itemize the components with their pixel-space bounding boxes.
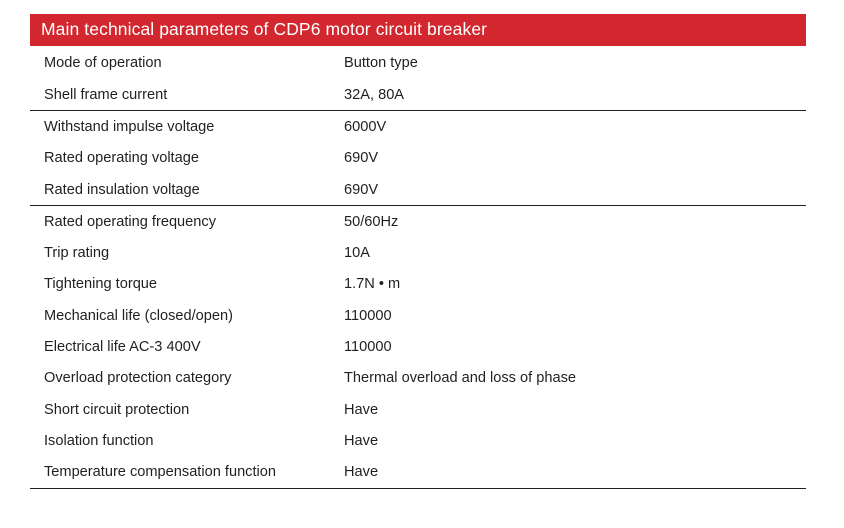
row-value: 10A [344, 245, 806, 261]
table-row: Short circuit protection Have [30, 394, 806, 425]
row-label: Rated operating frequency [30, 214, 344, 230]
row-value: 690V [344, 150, 806, 166]
row-label: Tightening torque [30, 276, 344, 292]
table-row: Rated operating frequency 50/60Hz [30, 206, 806, 237]
row-label: Overload protection category [30, 370, 344, 386]
table-row: Shell frame current 32A, 80A [30, 79, 806, 110]
table-group-general: Mode of operation Button type Shell fram… [30, 46, 806, 111]
table-header-band: Main technical parameters of CDP6 motor … [30, 14, 806, 46]
row-label: Temperature compensation function [30, 464, 344, 480]
row-value: 50/60Hz [344, 214, 806, 230]
row-label: Mechanical life (closed/open) [30, 308, 344, 324]
table-row: Mechanical life (closed/open) 110000 [30, 300, 806, 331]
table-row: Withstand impulse voltage 6000V [30, 111, 806, 142]
specification-table: Main technical parameters of CDP6 motor … [30, 14, 806, 489]
table-row: Rated operating voltage 690V [30, 143, 806, 174]
table-row: Trip rating 10A [30, 237, 806, 268]
row-label: Mode of operation [30, 55, 344, 71]
row-value: Thermal overload and loss of phase [344, 370, 806, 386]
table-row: Isolation function Have [30, 425, 806, 456]
row-label: Withstand impulse voltage [30, 119, 344, 135]
table-group-performance: Rated operating frequency 50/60Hz Trip r… [30, 206, 806, 489]
table-row: Electrical life AC-3 400V 110000 [30, 331, 806, 362]
table-row: Overload protection category Thermal ove… [30, 363, 806, 394]
row-value: Have [344, 402, 806, 418]
row-value: 6000V [344, 119, 806, 135]
row-label: Shell frame current [30, 87, 344, 103]
table-body: Mode of operation Button type Shell fram… [30, 46, 806, 489]
table-row: Tightening torque 1.7N • m [30, 269, 806, 300]
row-label: Rated operating voltage [30, 150, 344, 166]
row-value: 110000 [344, 339, 806, 355]
row-value: Have [344, 464, 806, 480]
row-label: Trip rating [30, 245, 344, 261]
page-root: Main technical parameters of CDP6 motor … [0, 0, 844, 528]
row-value: 32A, 80A [344, 87, 806, 103]
row-label: Rated insulation voltage [30, 182, 344, 198]
table-group-voltage: Withstand impulse voltage 6000V Rated op… [30, 111, 806, 206]
row-label: Short circuit protection [30, 402, 344, 418]
table-title: Main technical parameters of CDP6 motor … [41, 21, 487, 39]
table-row: Temperature compensation function Have [30, 457, 806, 488]
row-value: 1.7N • m [344, 276, 806, 292]
row-value: 690V [344, 182, 806, 198]
row-value: Have [344, 433, 806, 449]
row-label: Electrical life AC-3 400V [30, 339, 344, 355]
table-row: Mode of operation Button type [30, 46, 806, 79]
row-label: Isolation function [30, 433, 344, 449]
row-value: Button type [344, 55, 806, 71]
row-value: 110000 [344, 308, 806, 324]
table-row: Rated insulation voltage 690V [30, 174, 806, 205]
